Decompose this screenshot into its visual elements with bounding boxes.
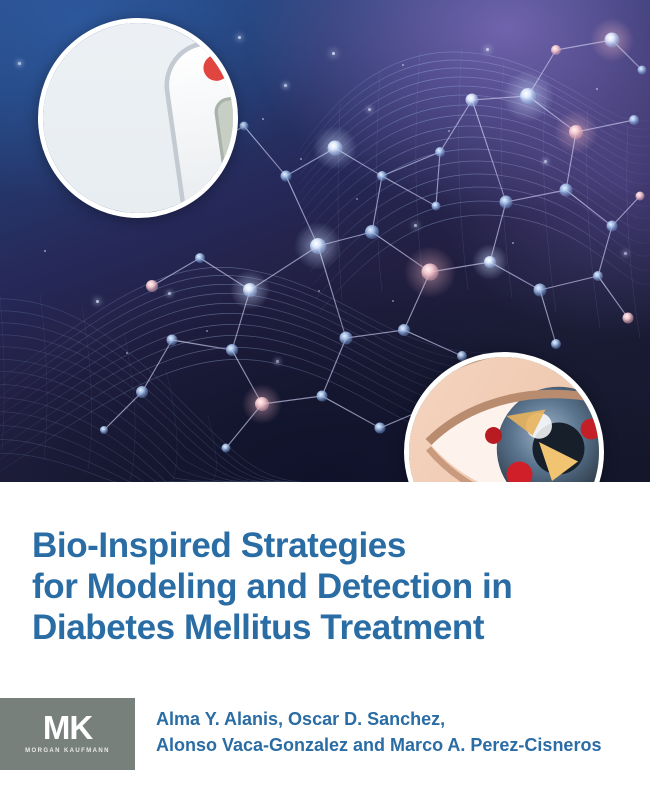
inset-retina-scan: Detect [404,352,604,482]
cover-text-panel: Bio-Inspired Strategies for Modeling and… [0,482,650,800]
title-line-2: for Modeling and Detection in [32,566,628,607]
book-cover: Detect Bio-Inspired Strategies for Model… [0,0,650,800]
author-line-1: Alma Y. Alanis, Oscar D. Sanchez, [156,706,646,732]
mk-monogram: MK [0,711,135,745]
publisher-logo-morgan-kaufmann: MK MORGAN KAUFMANN [0,698,135,770]
inset-glucometer [38,18,238,218]
cover-artwork: Detect [0,0,650,482]
author-list: Alma Y. Alanis, Oscar D. Sanchez, Alonso… [156,706,646,758]
glucometer-photo [43,23,238,218]
book-title: Bio-Inspired Strategies for Modeling and… [32,525,628,648]
title-line-3: Diabetes Mellitus Treatment [32,607,628,648]
title-line-1: Bio-Inspired Strategies [32,525,628,566]
retina-scan-photo: Detect [409,357,604,482]
author-line-2: Alonso Vaca-Gonzalez and Marco A. Perez-… [156,732,646,758]
mk-wordmark: MORGAN KAUFMANN [0,748,135,754]
